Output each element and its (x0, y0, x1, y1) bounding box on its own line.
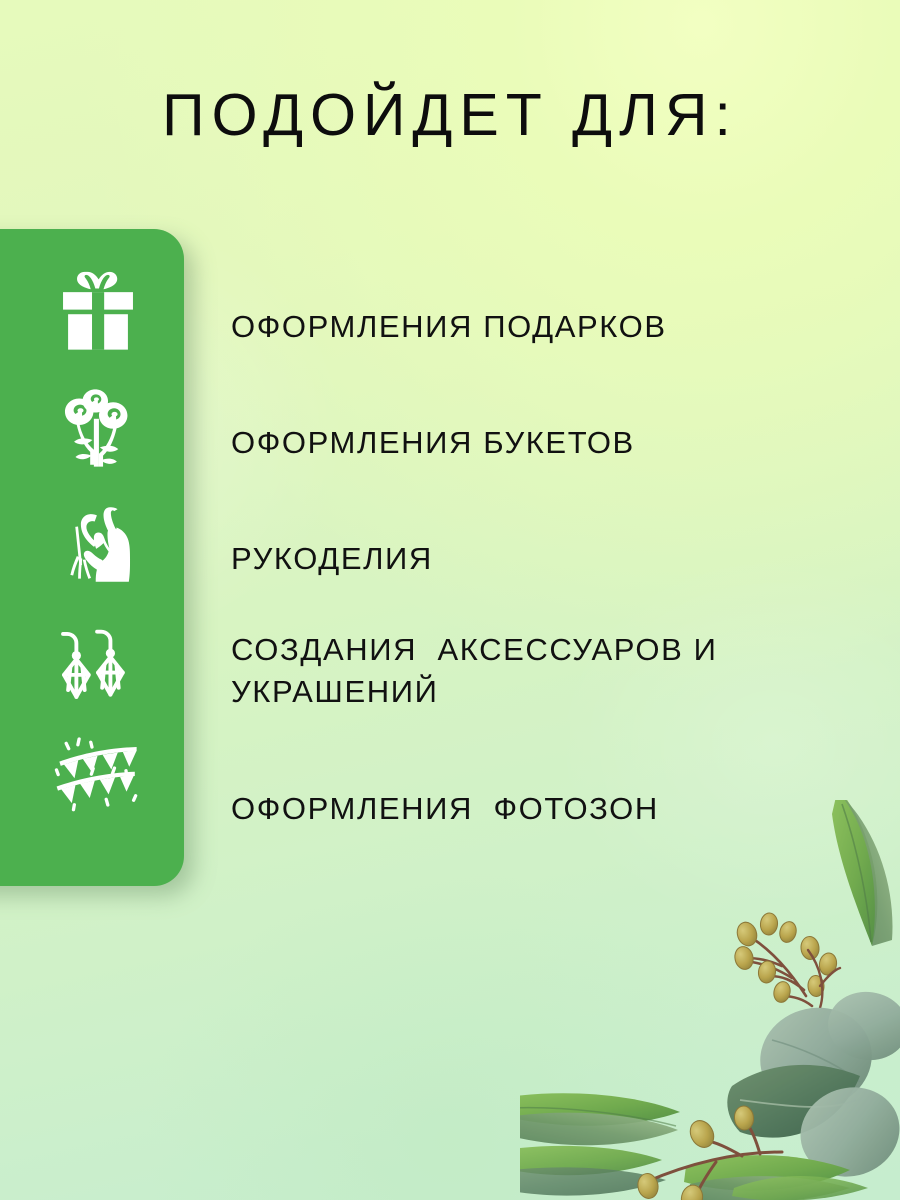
bunting-flags-icon (52, 735, 144, 827)
list-item: ОФОРМЛЕНИЯ ФОТОЗОН (231, 788, 871, 830)
feature-list: ОФОРМЛЕНИЯ ПОДАРКОВ ОФОРМЛЕНИЯ БУКЕТОВ Р… (231, 229, 871, 886)
list-item: ОФОРМЛЕНИЯ БУКЕТОВ (231, 422, 871, 464)
list-item: РУКОДЕЛИЯ (231, 538, 871, 580)
gift-box-icon (52, 265, 144, 357)
page-title: ПОДОЙДЕТ ДЛЯ: (0, 86, 900, 145)
earrings-icon (52, 616, 144, 708)
icon-sidebar-panel (0, 229, 184, 886)
list-item: ОФОРМЛЕНИЯ ПОДАРКОВ (231, 306, 871, 348)
roses-bouquet-icon (52, 382, 144, 474)
list-item: СОЗДАНИЯ АКСЕССУАРОВ И УКРАШЕНИЙ (231, 629, 871, 713)
handicraft-hand-needle-icon (52, 499, 144, 591)
